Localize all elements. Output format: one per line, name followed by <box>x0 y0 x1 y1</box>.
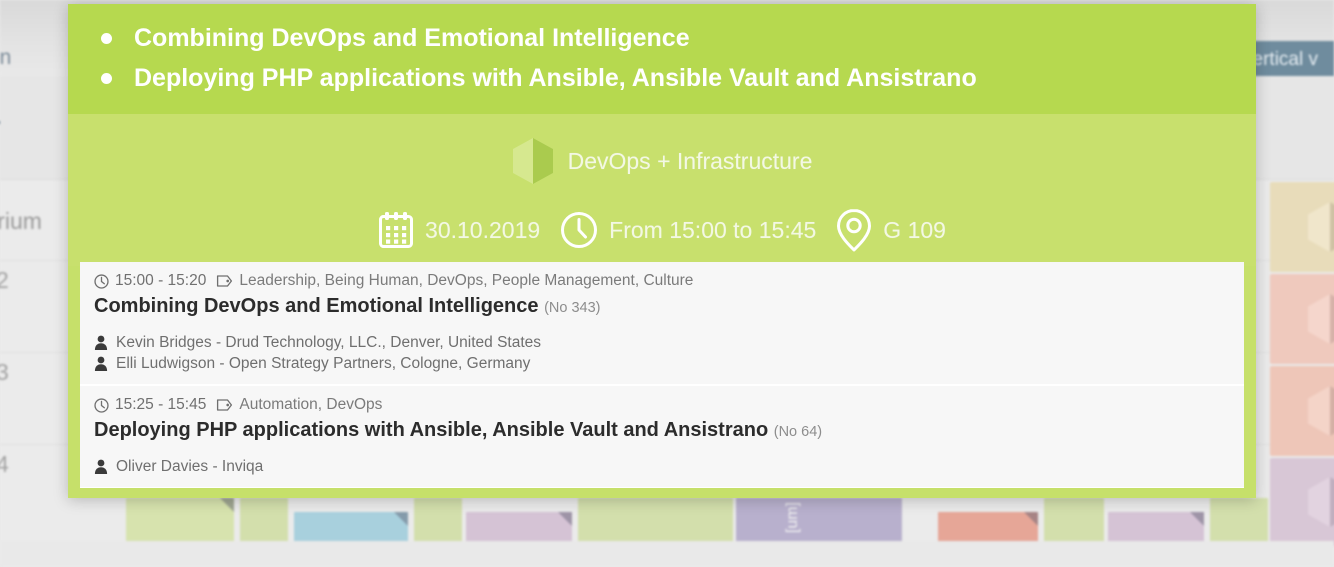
tag-icon <box>216 274 233 288</box>
speaker-name: Kevin Bridges - Drud Technology, LLC., D… <box>116 332 541 353</box>
clock-icon <box>94 398 109 413</box>
session-tags: Automation, DevOps <box>239 395 382 415</box>
session-detail-popup[interactable]: Combining DevOps and Emotional Intellige… <box>68 4 1256 498</box>
session-meta-line: 15:00 - 15:20 Leadership, Being Human, D… <box>80 271 1244 291</box>
session-number: (No 343) <box>544 300 600 316</box>
session-tags: Leadership, Being Human, DevOps, People … <box>239 271 693 291</box>
session-speakers: Kevin Bridges - Drud Technology, LLC., D… <box>80 321 1244 374</box>
session-card[interactable] <box>1270 458 1334 546</box>
popup-date-text: 30.10.2019 <box>425 217 540 244</box>
popup-meta-row: 30.10.2019 From 15:00 to 15:45 <box>68 185 1256 252</box>
popup-date: 30.10.2019 <box>378 211 540 249</box>
row-number: 4 <box>0 451 9 478</box>
speaker-row: Elli Ludwigson - Open Strategy Partners,… <box>94 353 1230 374</box>
session-title: Combining DevOps and Emotional Intellige… <box>94 295 539 317</box>
corner-marker-icon <box>394 512 408 526</box>
popup-track-name: DevOps + Infrastructure <box>568 148 813 175</box>
person-icon <box>94 356 108 371</box>
session-card[interactable] <box>1270 182 1334 272</box>
day-tab-monday[interactable]: Mon <box>0 46 11 70</box>
popup-location-text: G 109 <box>883 217 946 244</box>
row-number: 3 <box>0 359 9 386</box>
session-number: (No 64) <box>774 424 822 440</box>
room-label-auditorium: torium <box>0 208 42 235</box>
popup-time-text: From 15:00 to 15:45 <box>609 217 816 244</box>
corner-marker-icon <box>1190 512 1204 526</box>
row-number: 2 <box>0 267 9 294</box>
location-pin-icon <box>836 208 872 252</box>
clock-icon <box>94 274 109 289</box>
bottom-bar <box>0 541 1334 567</box>
session-card[interactable] <box>1270 274 1334 364</box>
session-title-line[interactable]: Combining DevOps and Emotional Intellige… <box>80 291 1244 321</box>
popup-headline: Combining DevOps and Emotional Intellige… <box>68 4 1256 114</box>
tag-icon <box>216 398 233 412</box>
corner-marker-icon <box>558 512 572 526</box>
popup-headline-item: Combining DevOps and Emotional Intellige… <box>68 18 1256 58</box>
person-icon <box>94 459 108 474</box>
session-meta-line: 15:25 - 15:45 Automation, DevOps <box>80 395 1244 415</box>
vertical-view-label: ertical v <box>1253 49 1318 70</box>
cube-hexagon-icon <box>1308 477 1334 527</box>
day-tab-label: Mon <box>0 46 11 69</box>
session-list-item[interactable]: 15:00 - 15:20 Leadership, Being Human, D… <box>80 262 1244 384</box>
session-time: 15:25 - 15:45 <box>115 395 206 415</box>
session-list-item[interactable]: 15:25 - 15:45 Automation, DevOps Deployi… <box>80 386 1244 487</box>
cube-hexagon-icon <box>512 137 554 185</box>
cube-hexagon-icon <box>1308 202 1334 252</box>
corner-marker-icon <box>1024 512 1038 526</box>
popup-track: DevOps + Infrastructure <box>68 114 1256 185</box>
session-title-line[interactable]: Deploying PHP applications with Ansible,… <box>80 415 1244 445</box>
speaker-name: Elli Ludwigson - Open Strategy Partners,… <box>116 353 530 374</box>
session-title: Deploying PHP applications with Ansible,… <box>94 419 768 441</box>
popup-meta: DevOps + Infrastructure <box>68 114 1256 266</box>
popup-session-list: 15:00 - 15:20 Leadership, Being Human, D… <box>80 262 1244 488</box>
popup-headline-item: Deploying PHP applications with Ansible,… <box>68 58 1256 98</box>
person-icon <box>94 335 108 350</box>
speaker-name: Oliver Davies - Inviqa <box>116 456 263 477</box>
session-time: 15:00 - 15:20 <box>115 271 206 291</box>
speaker-row: Oliver Davies - Inviqa <box>94 456 1230 477</box>
popup-headline-list: Combining DevOps and Emotional Intellige… <box>68 18 1256 98</box>
popup-time: From 15:00 to 15:45 <box>560 211 816 249</box>
cube-hexagon-icon <box>1308 386 1334 436</box>
card-vertical-label: [um] <box>784 502 802 533</box>
session-card[interactable] <box>1270 366 1334 456</box>
clock-icon <box>560 211 598 249</box>
cube-hexagon-icon <box>1308 294 1334 344</box>
calendar-icon <box>378 211 414 249</box>
corner-marker-icon <box>220 498 234 512</box>
speaker-row: Kevin Bridges - Drud Technology, LLC., D… <box>94 332 1230 353</box>
popup-location: G 109 <box>836 208 946 252</box>
session-speakers: Oliver Davies - Inviqa <box>80 445 1244 477</box>
